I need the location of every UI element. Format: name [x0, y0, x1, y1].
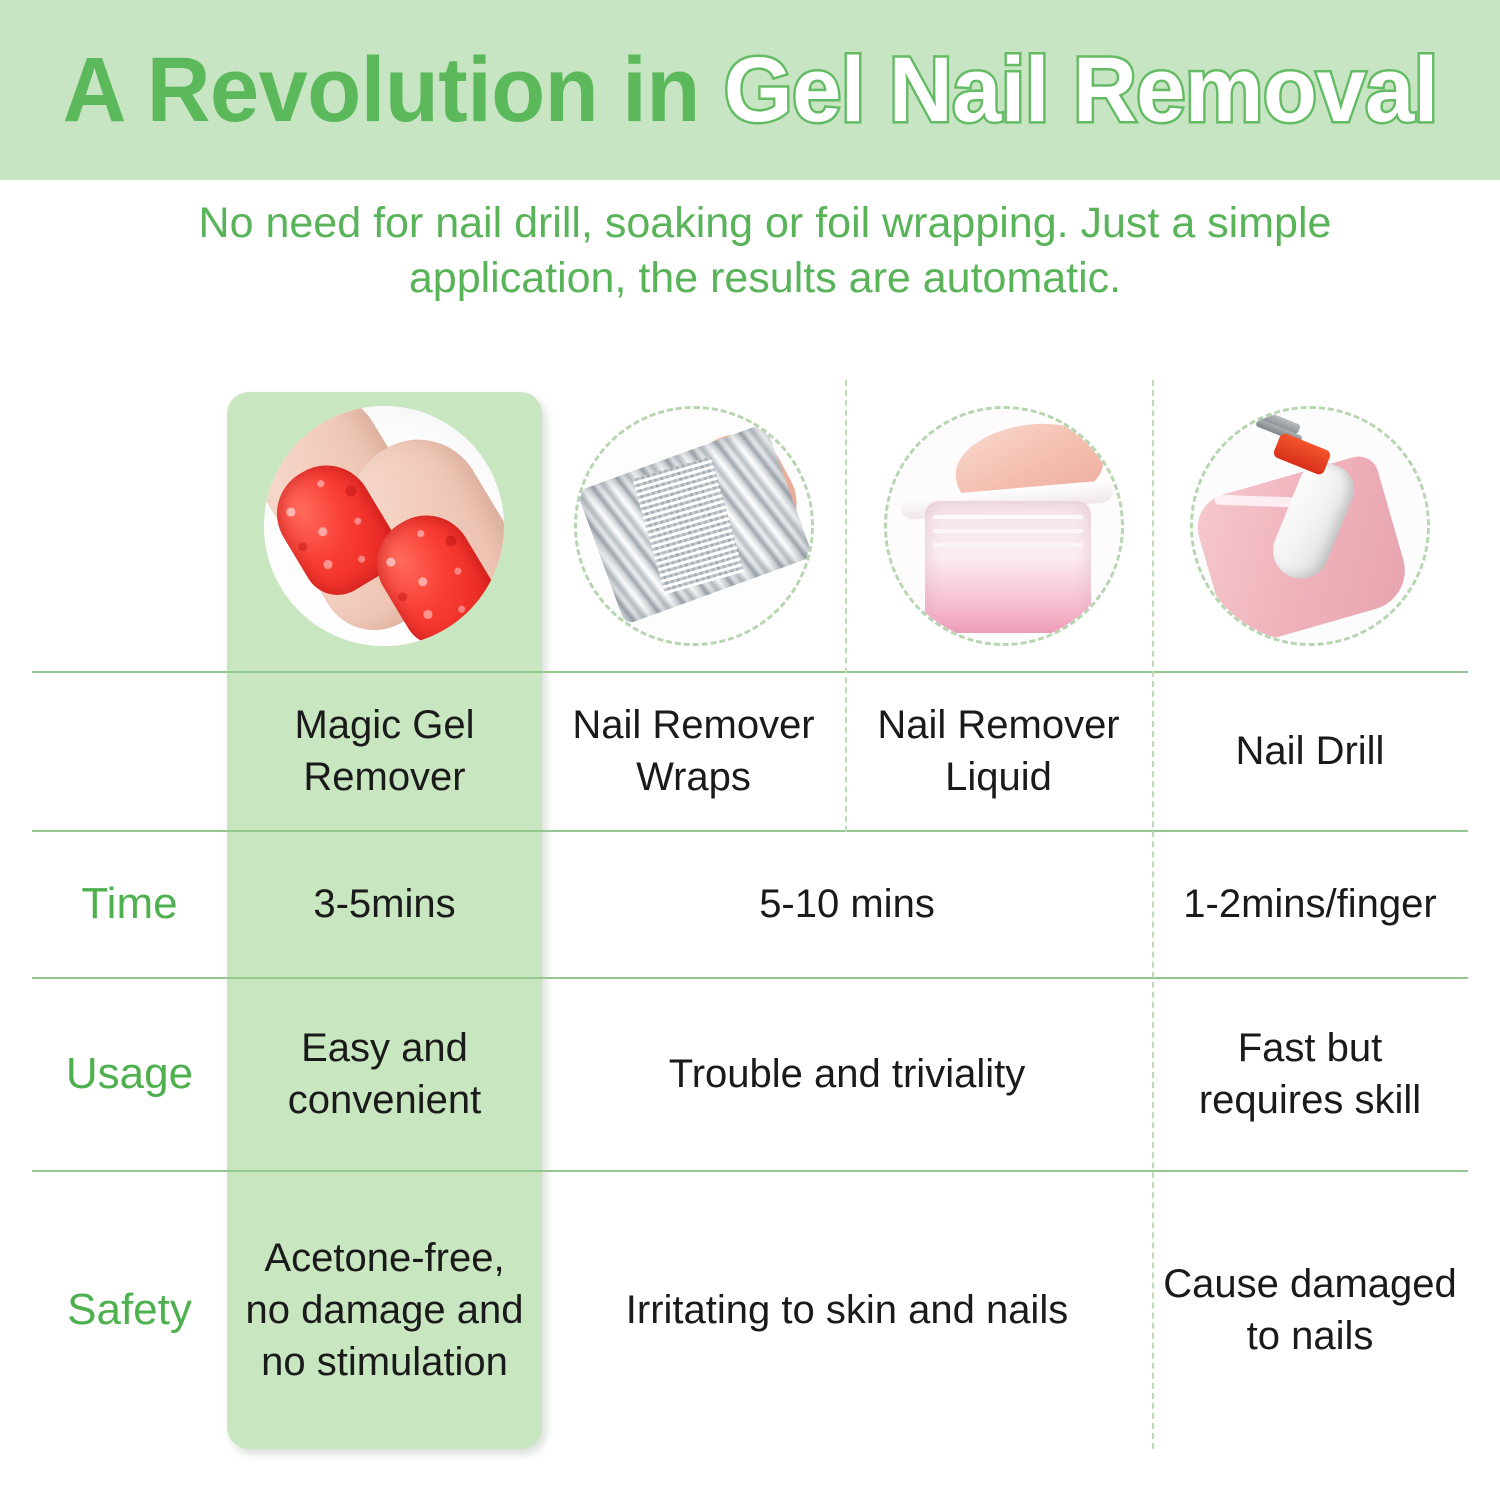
- column-header-nail-remover-liquid: Nail Remover Liquid: [845, 671, 1152, 830]
- page-title: A Revolution in Gel Nail Removal: [62, 44, 1437, 136]
- row-label-safety: Safety: [32, 1170, 227, 1449]
- cell-usage-nail-drill: Fast but requires skill: [1152, 977, 1468, 1170]
- infographic-page: A Revolution in Gel Nail Removal No need…: [0, 0, 1500, 1500]
- foil-wrap-on-finger-photo: [574, 406, 814, 646]
- product-image-2: [574, 406, 814, 646]
- subtitle-text: No need for nail drill, soaking or foil …: [150, 196, 1380, 306]
- row-label-usage: Usage: [32, 977, 227, 1170]
- cell-safety-magic-gel-remover: Acetone-free, no damage and no stimulati…: [227, 1170, 542, 1449]
- cell-time-wraps-and-liquid: 5-10 mins: [542, 830, 1152, 977]
- cell-time-magic-gel-remover: 3-5mins: [227, 830, 542, 977]
- pink-remover-liquid-jar-photo: [884, 406, 1124, 646]
- product-image-4: [1190, 406, 1430, 646]
- column-header-nail-remover-wraps: Nail Remover Wraps: [542, 671, 845, 830]
- product-image-1: [264, 406, 504, 646]
- nails-with-red-gel-remover-photo: [264, 406, 504, 646]
- cell-time-nail-drill: 1-2mins/finger: [1152, 830, 1468, 977]
- product-image-3: [884, 406, 1124, 646]
- cell-safety-nail-drill: Cause damaged to nails: [1152, 1170, 1468, 1449]
- cell-usage-magic-gel-remover: Easy and convenient: [227, 977, 542, 1170]
- column-header-nail-drill: Nail Drill: [1152, 671, 1468, 830]
- title-green-part: A Revolution in: [62, 39, 699, 141]
- comparison-table: Magic Gel Remover Nail Remover Wraps Nai…: [32, 380, 1468, 1460]
- row-label-time: Time: [32, 830, 227, 977]
- nail-drill-bit-on-nail-photo: [1190, 406, 1430, 646]
- title-outline-part: Gel Nail Removal: [724, 39, 1438, 141]
- cell-safety-wraps-and-liquid: Irritating to skin and nails: [542, 1170, 1152, 1449]
- column-header-magic-gel-remover: Magic Gel Remover: [227, 671, 542, 830]
- cell-usage-wraps-and-liquid: Trouble and triviality: [542, 977, 1152, 1170]
- title-banner: A Revolution in Gel Nail Removal: [0, 0, 1500, 180]
